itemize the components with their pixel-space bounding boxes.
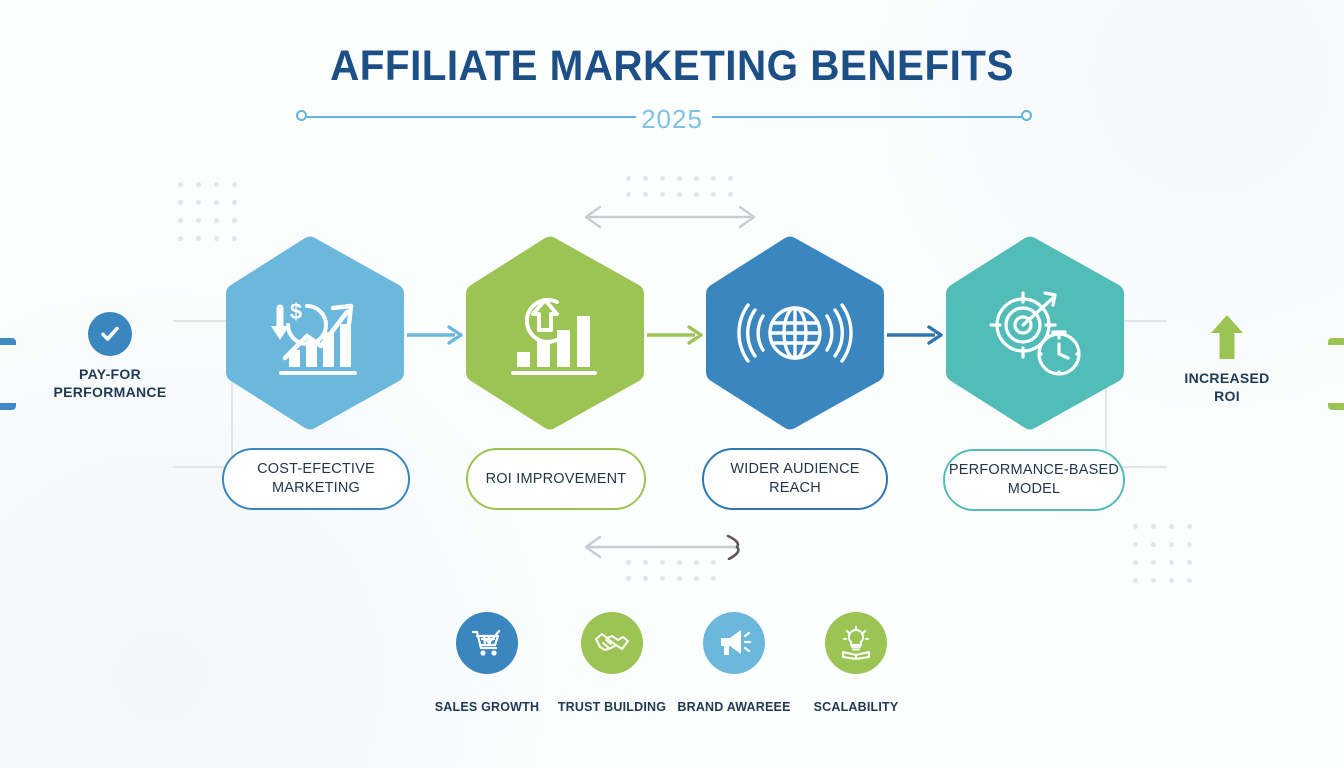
rule-left-endpoint-icon bbox=[296, 110, 307, 121]
page-title: AFFILIATE MARKETING BENEFITS bbox=[40, 42, 1303, 91]
upward-arrow-bar-chart-icon bbox=[495, 278, 615, 388]
step-hexagon-2[interactable] bbox=[463, 235, 647, 431]
rule-right-endpoint-icon bbox=[1021, 110, 1032, 121]
shopping-cart-check-icon bbox=[456, 612, 518, 674]
title-underline-rule: 2025 bbox=[296, 107, 1032, 127]
lightbulb-book-icon bbox=[825, 612, 887, 674]
rule-right-segment bbox=[712, 116, 1022, 118]
infographic-canvas: AFFILIATE MARKETING BENEFITS 2025 PAY-FO… bbox=[0, 0, 1344, 768]
top-double-arrow-icon bbox=[578, 204, 762, 235]
pill-label-line1: COST-EFECTIVE bbox=[257, 461, 375, 477]
pill-label-line2: REACH bbox=[769, 480, 821, 496]
connector-arrow-2 bbox=[647, 324, 707, 346]
step-pill-3[interactable]: WIDER AUDIENCE REACH bbox=[702, 448, 888, 510]
benefit-badges-row: SALES GROWTH TRUST BUILDING bbox=[420, 612, 920, 732]
step-pill-1[interactable]: COST-EFECTIVE MARKETING bbox=[222, 448, 410, 510]
connector-arrow-3 bbox=[887, 324, 947, 346]
pill-label-line2: MARKETING bbox=[272, 480, 360, 496]
check-circle-icon bbox=[88, 312, 132, 356]
edge-bracket-right-green bbox=[1328, 338, 1344, 410]
up-arrow-icon bbox=[1210, 314, 1244, 360]
connector-arrow-1 bbox=[407, 324, 467, 346]
bottom-double-arrow-icon bbox=[578, 534, 762, 565]
step-pill-2[interactable]: ROI IMPROVEMENT bbox=[466, 448, 646, 510]
cost-savings-growth-chart-icon: $ bbox=[255, 278, 375, 388]
rule-left-segment bbox=[306, 116, 636, 118]
badge-label: SCALABILITY bbox=[766, 700, 946, 714]
pill-label-line2: MODEL bbox=[1008, 481, 1061, 497]
step-pill-4[interactable]: PERFORMANCE-BASED MODEL bbox=[943, 449, 1125, 511]
step-hexagon-4[interactable] bbox=[943, 235, 1127, 431]
pay-for-performance-marker: PAY-FOR PERFORMANCE bbox=[45, 312, 175, 401]
marker-label-line2: PERFORMANCE bbox=[45, 384, 175, 402]
decorative-dot-grid-bottom-right bbox=[1133, 524, 1193, 584]
decorative-dot-grid-top-center bbox=[626, 176, 736, 202]
decorative-dot-grid-top-left bbox=[178, 182, 238, 242]
target-stopwatch-icon bbox=[975, 278, 1095, 388]
step-hexagon-1[interactable]: $ bbox=[223, 235, 407, 431]
pill-label-line1: ROI IMPROVEMENT bbox=[486, 471, 627, 487]
increased-roi-label: INCREASED ROI bbox=[1162, 370, 1292, 405]
marker-label-line2: ROI bbox=[1162, 388, 1292, 406]
svg-text:$: $ bbox=[290, 299, 302, 324]
step-hexagon-3[interactable] bbox=[703, 235, 887, 431]
pill-label-line1: PERFORMANCE-BASED bbox=[949, 462, 1119, 478]
marker-label-line1: PAY-FOR bbox=[45, 366, 175, 384]
pay-for-performance-label: PAY-FOR PERFORMANCE bbox=[45, 366, 175, 401]
increased-roi-marker: INCREASED ROI bbox=[1162, 314, 1292, 405]
globe-broadcast-icon bbox=[735, 278, 855, 388]
marker-label-line1: INCREASED bbox=[1162, 370, 1292, 388]
handshake-icon bbox=[581, 612, 643, 674]
edge-bracket-left-blue bbox=[0, 338, 16, 410]
year-label: 2025 bbox=[632, 104, 712, 135]
megaphone-icon bbox=[703, 612, 765, 674]
pill-label-line1: WIDER AUDIENCE bbox=[730, 461, 859, 477]
